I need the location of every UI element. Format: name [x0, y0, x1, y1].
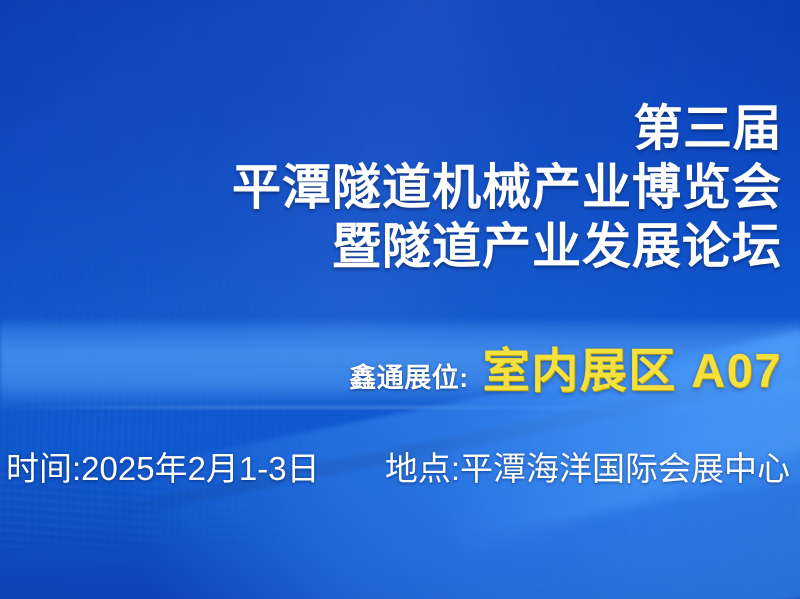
event-title-line-1: 第三届 [232, 104, 782, 155]
event-title-line-3: 暨隧道产业发展论坛 [232, 222, 782, 273]
booth-label: 鑫通展位: [349, 356, 469, 395]
event-date: 时间:2025年2月1-3日 [6, 442, 320, 490]
event-title-block: 第三届 平潭隧道机械产业博览会 暨隧道产业发展论坛 [232, 104, 782, 273]
event-info-row: 时间:2025年2月1-3日 地点:平潭海洋国际会展中心 [6, 442, 790, 490]
exhibition-banner: 第三届 平潭隧道机械产业博览会 暨隧道产业发展论坛 鑫通展位: 室内展区 A07… [0, 0, 800, 599]
event-venue: 地点:平潭海洋国际会展中心 [385, 442, 790, 490]
banner-content: 第三届 平潭隧道机械产业博览会 暨隧道产业发展论坛 鑫通展位: 室内展区 A07… [0, 0, 800, 599]
booth-info-row: 鑫通展位: 室内展区 A07 [349, 332, 782, 401]
event-title-line-2: 平潭隧道机械产业博览会 [232, 163, 782, 214]
booth-number: 室内展区 A07 [483, 332, 782, 401]
